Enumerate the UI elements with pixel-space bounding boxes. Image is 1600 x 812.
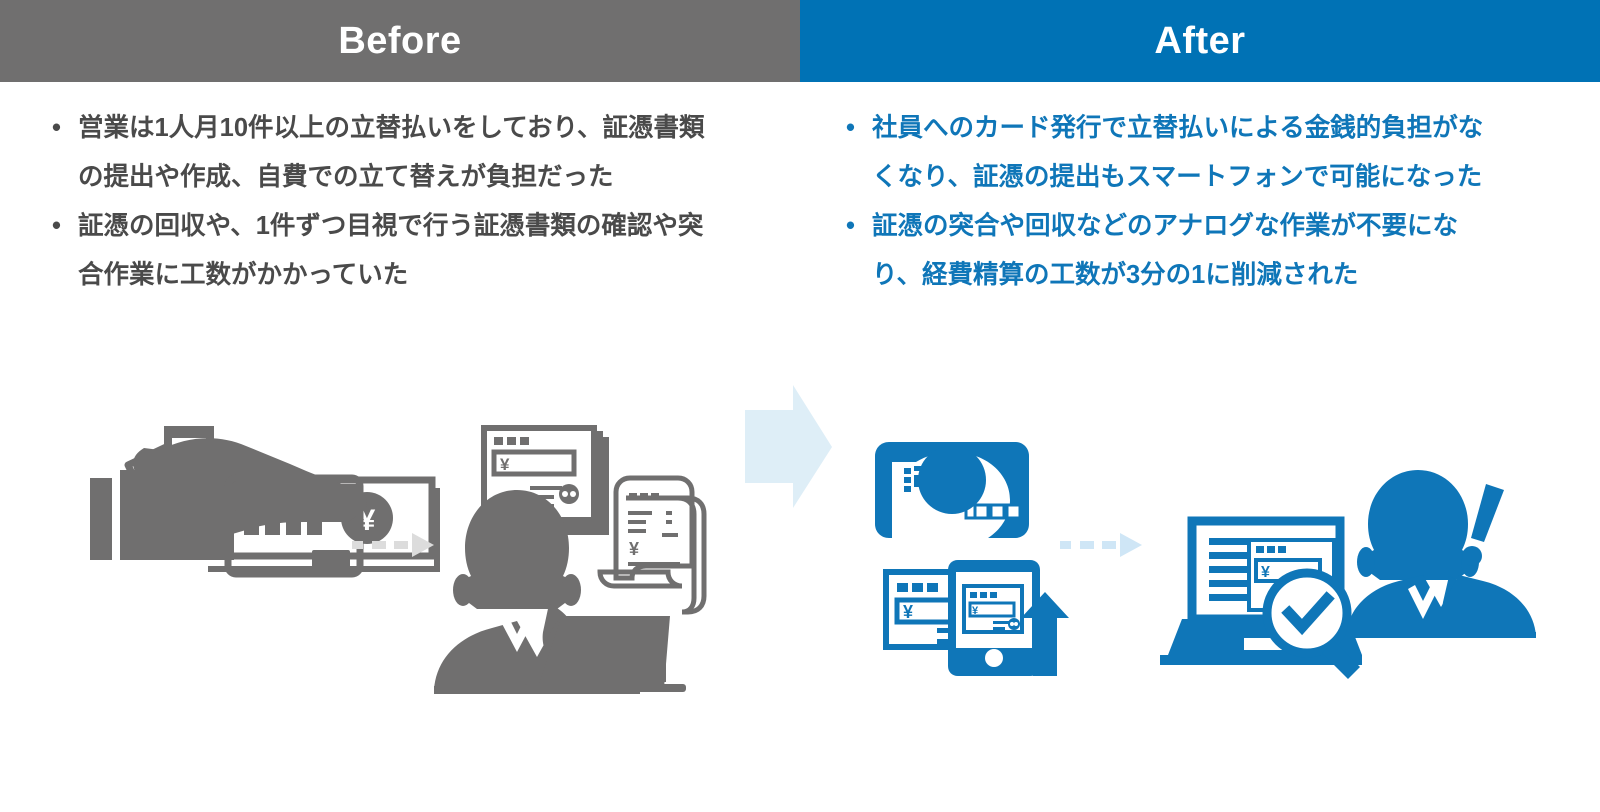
yen-symbol: ¥ xyxy=(1261,564,1270,581)
yen-symbol: ¥ xyxy=(629,539,639,559)
bullet-marker-icon: • xyxy=(52,202,78,251)
receipt-stack-icon: ¥ xyxy=(600,478,704,612)
before-illustration: ¥ xyxy=(90,428,704,694)
yen-symbol: ¥ xyxy=(359,504,376,537)
yen-symbol: ¥ xyxy=(972,605,979,617)
stressed-worker-with-laptop-icon xyxy=(432,490,686,694)
header-before: Before xyxy=(0,0,800,82)
header-before-label: Before xyxy=(338,22,461,60)
desktop-window-icon: ¥ xyxy=(886,572,996,647)
dashed-arrow-icon xyxy=(352,533,434,557)
laptop-with-expense-form-icon: ¥ xyxy=(1160,521,1362,665)
before-bullet-1: • 営業は1人月10件以上の立替払いをしており、証憑書類の提出や作成、自費での立… xyxy=(52,104,752,202)
bullet-marker-icon: • xyxy=(846,202,872,251)
after-bullet-list: • 社員へのカード発行で立替払いによる金銭的負担がなくなり、証憑の提出もスマート… xyxy=(846,104,1546,300)
bullet-marker-icon: • xyxy=(52,104,78,153)
after-illustration: ¥ ¥ xyxy=(875,442,1536,679)
happy-worker-icon xyxy=(1346,470,1536,638)
before-bullet-2-text: 証憑の回収や、1件ずつ目視で行う証憑書類の確認や突合作業に工数がかかっていた xyxy=(78,202,723,300)
yen-symbol: ¥ xyxy=(500,455,510,474)
magnifier-check-icon xyxy=(1267,573,1360,679)
before-bullet-1-text: 営業は1人月10件以上の立替払いをしており、証憑書類の提出や作成、自費での立て替… xyxy=(78,104,723,202)
header-after: After xyxy=(800,0,1600,82)
hand-with-cash-icon: ¥ xyxy=(128,438,440,572)
exclamation-mark-icon xyxy=(1462,484,1504,566)
briefcase-icon xyxy=(90,430,234,560)
big-right-arrow xyxy=(745,385,832,508)
after-bullet-1-text: 社員へのカード発行で立替払いによる金銭的負担がなくなり、証憑の提出もスマートフォ… xyxy=(872,104,1484,202)
after-bullet-2-text: 証憑の突合や回収などのアナログな作業が不要になり、経費精算の工数が3分の1に削減… xyxy=(872,202,1484,300)
before-bullet-list: • 営業は1人月10件以上の立替払いをしており、証憑書類の提出や作成、自費での立… xyxy=(52,104,752,300)
comparison-header: Before After xyxy=(0,0,1600,82)
credit-card-icon xyxy=(228,478,360,574)
bullet-marker-icon: • xyxy=(846,104,872,153)
corporate-card-icon xyxy=(875,442,1029,548)
before-bullet-2: • 証憑の回収や、1件ずつ目視で行う証憑書類の確認や突合作業に工数がかかっていた xyxy=(52,202,752,300)
expense-form-windows-icon: ¥ xyxy=(484,428,606,556)
header-after-label: After xyxy=(1154,22,1245,60)
up-arrow-icon xyxy=(1021,592,1069,676)
after-bullet-2: • 証憑の突合や回収などのアナログな作業が不要になり、経費精算の工数が3分の1に… xyxy=(846,202,1546,300)
smartphone-upload-icon: ¥ xyxy=(948,560,1040,676)
dashed-arrow-icon xyxy=(1060,533,1142,557)
yen-symbol: ¥ xyxy=(903,602,913,622)
after-bullet-1: • 社員へのカード発行で立替払いによる金銭的負担がなくなり、証憑の提出もスマート… xyxy=(846,104,1546,202)
